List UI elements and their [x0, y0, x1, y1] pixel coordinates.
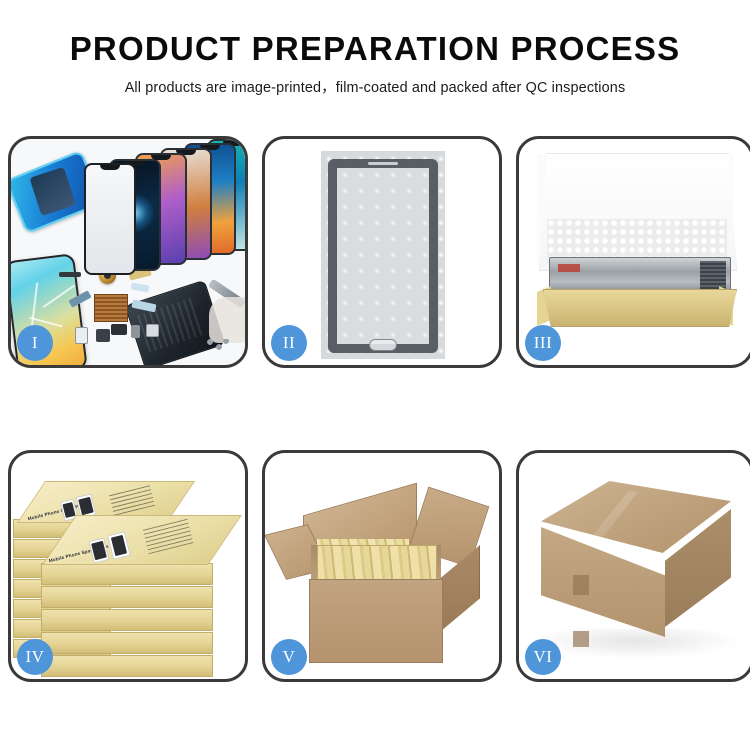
- small-component-part: [96, 329, 110, 342]
- process-step-grid: I II III: [8, 136, 746, 682]
- kraft-box: [41, 609, 213, 631]
- small-component-part: [131, 325, 140, 338]
- step-badge-6: VI: [525, 639, 561, 675]
- step-badge-1: I: [17, 325, 53, 361]
- phone-screen-1: [84, 163, 136, 275]
- process-step-panel-1[interactable]: I: [8, 136, 248, 368]
- product-label: [558, 264, 580, 272]
- chip-grid-part: [94, 294, 128, 322]
- kraft-box: [41, 586, 213, 608]
- carton-tape-tab: [573, 631, 589, 647]
- small-component-part: [75, 327, 88, 344]
- carton-front-panel: [309, 579, 443, 663]
- connector-bar-part: [59, 272, 81, 277]
- process-step-panel-6[interactable]: VI: [516, 450, 750, 682]
- kraft-box: [41, 563, 213, 585]
- small-component-part: [146, 324, 159, 337]
- process-step-panel-2[interactable]: II: [262, 136, 502, 368]
- kraft-box: [41, 655, 213, 677]
- box-base: [543, 289, 737, 327]
- step-badge-3: III: [525, 325, 561, 361]
- notch-icon: [100, 165, 120, 170]
- earpiece-slot-icon: [368, 162, 398, 165]
- page-title: PRODUCT PREPARATION PROCESS: [0, 32, 750, 67]
- home-button-slot-icon: [369, 339, 397, 351]
- carton-tape-tab: [573, 575, 589, 595]
- hand-shape: [209, 297, 245, 343]
- process-step-panel-3[interactable]: III: [516, 136, 750, 368]
- page-subtitle: All products are image-printed，film-coat…: [0, 76, 750, 97]
- flex-cable-part: [131, 282, 150, 292]
- screws-part: [207, 339, 229, 351]
- step-badge-4: IV: [17, 639, 53, 675]
- step-badge-5: V: [271, 639, 307, 675]
- kraft-box: [41, 632, 213, 654]
- process-step-panel-5[interactable]: V: [262, 450, 502, 682]
- carton-shadow: [531, 629, 741, 659]
- process-step-panel-4[interactable]: Mobile Phone Spare Parts Mobile Phone Sp…: [8, 450, 248, 682]
- step-badge-2: II: [271, 325, 307, 361]
- page-header: PRODUCT PREPARATION PROCESS All products…: [0, 0, 750, 97]
- small-component-part: [111, 324, 127, 335]
- wrapped-screen-glass: [328, 159, 438, 353]
- packed-product: [549, 257, 731, 293]
